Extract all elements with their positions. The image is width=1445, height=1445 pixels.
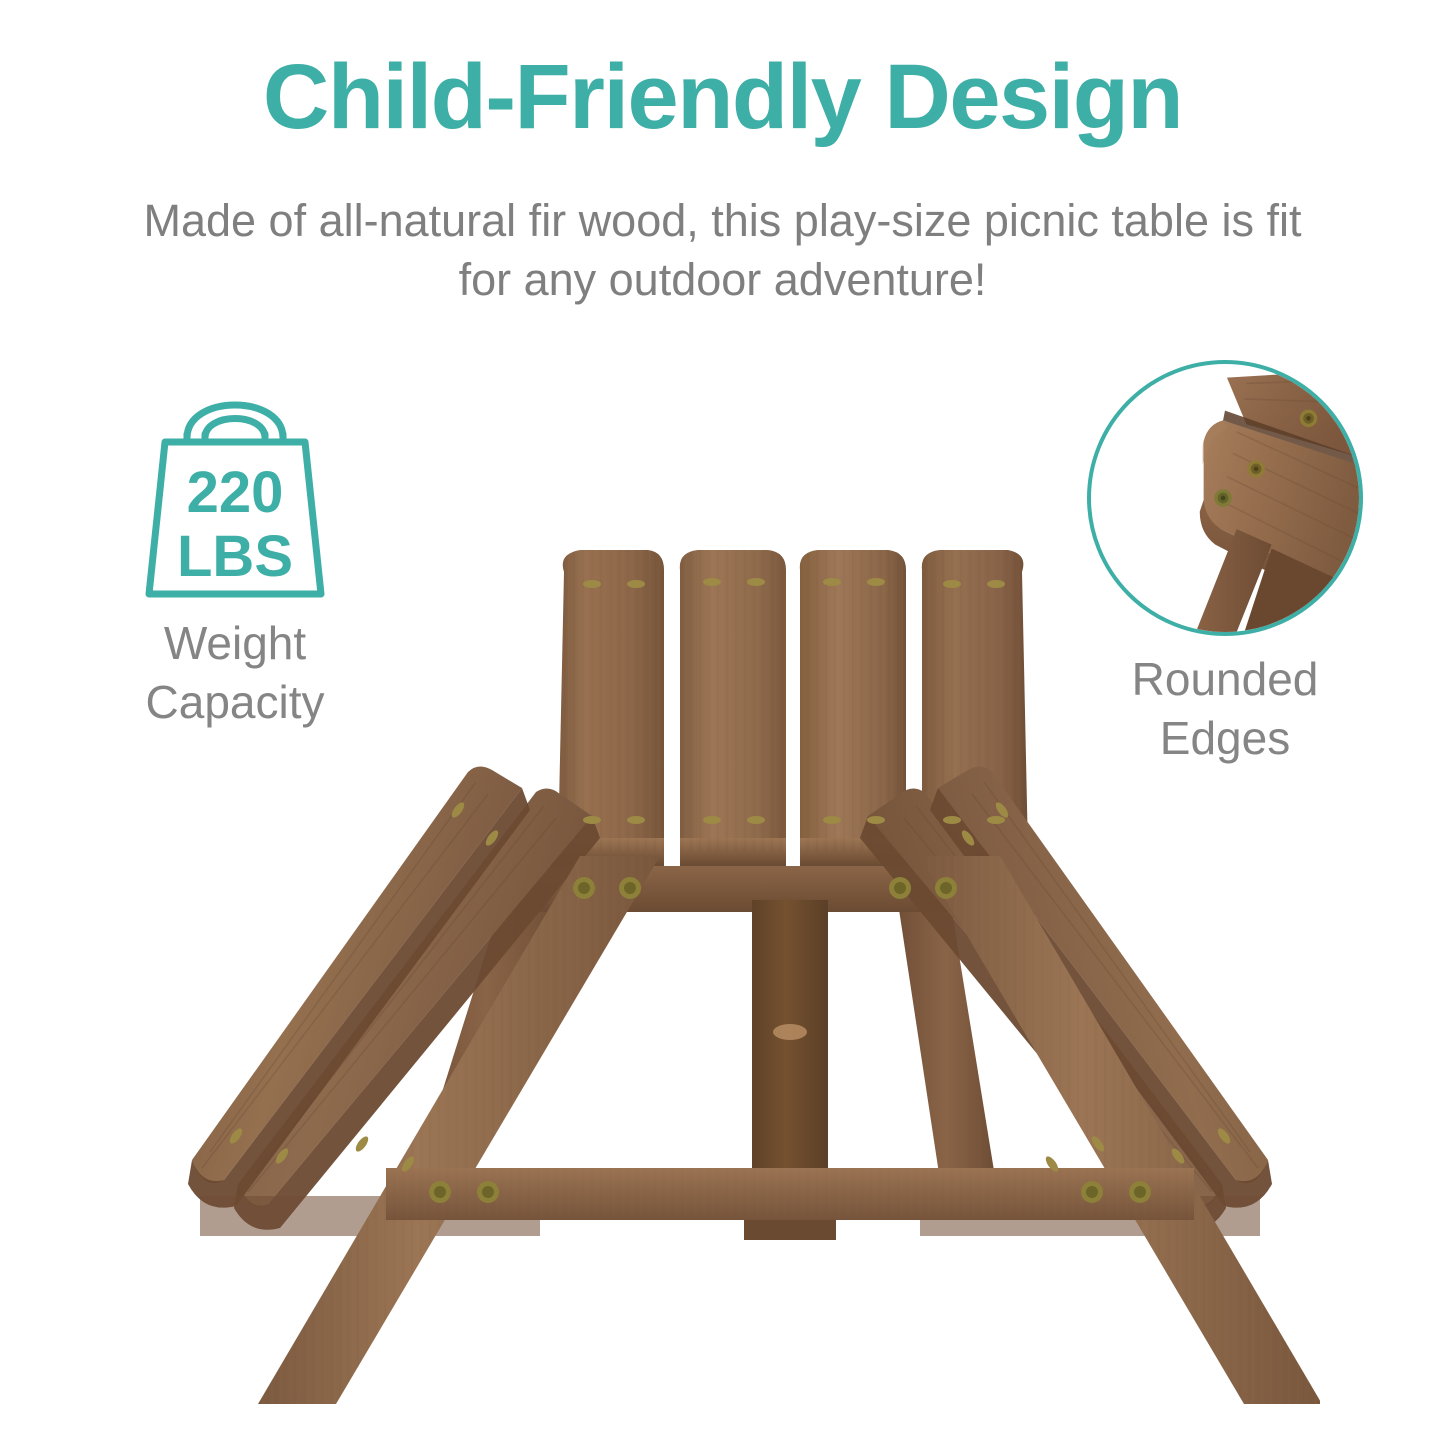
page-title: Child-Friendly Design — [0, 48, 1445, 147]
wood-knot — [773, 1024, 807, 1040]
product-infographic: Child-Friendly Design Made of all-natura… — [0, 0, 1445, 1445]
product-image-picnic-table — [140, 520, 1320, 1430]
weight-value: 220 — [187, 460, 284, 525]
screw-icon — [1300, 410, 1317, 427]
screw-icon — [1214, 489, 1231, 506]
cross-brace — [386, 1168, 1194, 1220]
screw-icon — [1247, 460, 1264, 477]
page-subtitle: Made of all-natural fir wood, this play-… — [120, 192, 1325, 309]
subtitle-line-1: Made of all-natural fir wood, this play-… — [143, 195, 1209, 246]
